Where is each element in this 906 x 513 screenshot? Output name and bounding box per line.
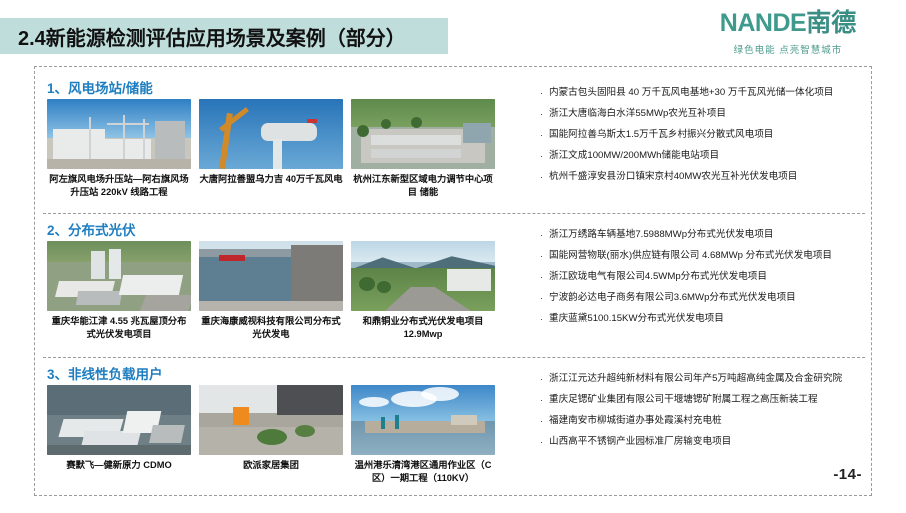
section-divider — [43, 357, 865, 358]
section-distributed-pv: 2、分布式光伏 — [35, 215, 873, 357]
substation-photo — [47, 99, 191, 169]
case-caption: 阿左旗风电场升压站—阿右旗风场升压站 220kV 线路工程 — [47, 173, 191, 198]
section-image-row: 阿左旗风电场升压站—阿右旗风场升压站 220kV 线路工程 大唐阿 — [47, 99, 497, 198]
bullet-item: ·重庆足锶矿业集团有限公司干堰塘锶矿附属工程之高压新装工程 — [540, 394, 860, 406]
case-card[interactable]: 重庆海康威视科技有限公司分布式光伏发电 — [199, 241, 343, 340]
page-title: 2.4新能源检测评估应用场景及案例（部分） — [0, 22, 406, 51]
bullet-item: ·山西高平不锈钢产业园标准厂房输变电项目 — [540, 436, 860, 448]
case-caption: 杭州江东新型区域电力调节中心项目 储能 — [351, 173, 495, 198]
logo-tagline: 绿色电能 点亮智慧城市 — [734, 42, 843, 56]
case-card[interactable]: 和鼎铜业分布式光伏发电项目 12.9Mwp — [351, 241, 495, 340]
office-building-photo — [199, 241, 343, 311]
port-terminal-aerial-photo — [351, 385, 495, 455]
section-heading: 3、非线性负载用户 — [47, 363, 163, 383]
wind-turbine-photo — [199, 99, 343, 169]
bullet-marker: · — [540, 150, 549, 162]
bullet-text: 浙江文成100MW/200MWh储能电站项目 — [549, 150, 860, 162]
case-caption: 大唐阿拉善盟乌力吉 40万千瓦风电 — [199, 173, 343, 186]
bullet-text: 浙江欧珑电气有限公司4.5WMp分布式光伏发电项目 — [549, 271, 860, 283]
bullet-text: 福建南安市柳城街道办事处霞溪村充电桩 — [549, 415, 860, 427]
bullet-item: ·国能阿拉善乌斯太1.5万千瓦乡村振兴分散式风电项目 — [540, 129, 860, 141]
energy-storage-aerial-photo — [351, 99, 495, 169]
bullet-item: ·杭州千盛淳安县汾口镇宋京村40MW农光互补光伏发电项目 — [540, 171, 860, 183]
bullet-text: 浙江万绣路车辆基地7.5988MWp分布式光伏发电项目 — [549, 229, 860, 241]
case-caption: 和鼎铜业分布式光伏发电项目 12.9Mwp — [351, 315, 495, 340]
logo-latin: NANDE — [720, 9, 806, 37]
bullet-marker: · — [540, 373, 549, 385]
bullet-item: ·浙江万绣路车辆基地7.5988MWp分布式光伏发电项目 — [540, 229, 860, 241]
bullet-item: ·浙江江元达升超纯新材料有限公司年产5万吨超高纯金属及合金研究院 — [540, 373, 860, 385]
section-wind-storage: 1、风电场站/储能 — [35, 73, 873, 213]
case-card[interactable]: 赛默飞—健新原力 CDMO — [47, 385, 191, 484]
bullet-marker: · — [540, 271, 549, 283]
bullet-marker: · — [540, 436, 549, 448]
section-image-row: 重庆华能江津 4.55 兆瓦屋顶分布式光伏发电项目 重庆海康威视科 — [47, 241, 497, 340]
bullet-item: ·重庆蓝黛5100.15KW分布式光伏发电项目 — [540, 313, 860, 325]
slide: 2.4新能源检测评估应用场景及案例（部分） NANDE南德 绿色电能 点亮智慧城… — [0, 0, 906, 513]
bullet-item: ·宁波韵必达电子商务有限公司3.6MWp分布式光伏发电项目 — [540, 292, 860, 304]
case-caption: 重庆海康威视科技有限公司分布式光伏发电 — [199, 315, 343, 340]
bullet-text: 重庆蓝黛5100.15KW分布式光伏发电项目 — [549, 313, 860, 325]
bullet-marker: · — [540, 129, 549, 141]
page-number: -14- — [833, 466, 862, 483]
bullet-text: 浙江大唐临海白水洋55MWp农光互补项目 — [549, 108, 860, 120]
bullet-marker: · — [540, 171, 549, 183]
bullet-marker: · — [540, 415, 549, 427]
bullet-marker: · — [540, 292, 549, 304]
bullet-item: ·福建南安市柳城街道办事处霞溪村充电桩 — [540, 415, 860, 427]
section-heading: 1、风电场站/储能 — [47, 77, 153, 97]
bullet-text: 国能阿拉善乌斯太1.5万千瓦乡村振兴分散式风电项目 — [549, 129, 860, 141]
bullet-text: 宁波韵必达电子商务有限公司3.6MWp分布式光伏发电项目 — [549, 292, 860, 304]
section-divider — [43, 213, 865, 214]
case-card[interactable]: 欧派家居集团 — [199, 385, 343, 484]
section-bullet-list: ·浙江江元达升超纯新材料有限公司年产5万吨超高纯金属及合金研究院 ·重庆足锶矿业… — [540, 373, 860, 457]
bullet-item: ·浙江欧珑电气有限公司4.5WMp分布式光伏发电项目 — [540, 271, 860, 283]
case-card[interactable]: 大唐阿拉善盟乌力吉 40万千瓦风电 — [199, 99, 343, 198]
bullet-text: 国能网营物联(丽水)供应链有限公司 4.68MWp 分布式光伏发电项目 — [549, 250, 860, 262]
logo-wordmark: NANDE南德 — [720, 11, 856, 36]
bullet-marker: · — [540, 313, 549, 325]
slide-title-band: 2.4新能源检测评估应用场景及案例（部分） — [0, 18, 448, 54]
case-caption: 欧派家居集团 — [199, 459, 343, 472]
campus-road-photo — [351, 241, 495, 311]
company-logo: NANDE南德 绿色电能 点亮智慧城市 — [688, 8, 888, 58]
bullet-item: ·内蒙古包头固阳县 40 万千瓦风电基地+30 万千瓦风光储一体化项目 — [540, 87, 860, 99]
bullet-text: 山西高平不锈钢产业园标准厂房输变电项目 — [549, 436, 860, 448]
industrial-park-aerial-photo — [47, 241, 191, 311]
logo-chinese: 南德 — [806, 9, 856, 37]
case-caption: 赛默飞—健新原力 CDMO — [47, 459, 191, 472]
bullet-item: ·浙江大唐临海白水洋55MWp农光互补项目 — [540, 108, 860, 120]
case-card[interactable]: 重庆华能江津 4.55 兆瓦屋顶分布式光伏发电项目 — [47, 241, 191, 340]
bullet-marker: · — [540, 394, 549, 406]
section-bullet-list: ·内蒙古包头固阳县 40 万千瓦风电基地+30 万千瓦风光储一体化项目 ·浙江大… — [540, 87, 860, 192]
content-frame: 1、风电场站/储能 — [34, 66, 872, 496]
bullet-text: 内蒙古包头固阳县 40 万千瓦风电基地+30 万千瓦风光储一体化项目 — [549, 87, 860, 99]
case-caption: 重庆华能江津 4.55 兆瓦屋顶分布式光伏发电项目 — [47, 315, 191, 340]
section-image-row: 赛默飞—健新原力 CDMO 欧派家居 — [47, 385, 497, 484]
factory-campus-aerial-photo — [199, 385, 343, 455]
bullet-marker: · — [540, 108, 549, 120]
case-caption: 温州港乐清湾港区通用作业区（C 区）一期工程（110KV） — [351, 459, 495, 484]
section-bullet-list: ·浙江万绣路车辆基地7.5988MWp分布式光伏发电项目 ·国能网营物联(丽水)… — [540, 229, 860, 334]
case-card[interactable]: 阿左旗风电场升压站—阿右旗风场升压站 220kV 线路工程 — [47, 99, 191, 198]
bullet-item: ·国能网营物联(丽水)供应链有限公司 4.68MWp 分布式光伏发电项目 — [540, 250, 860, 262]
case-card[interactable]: 温州港乐清湾港区通用作业区（C 区）一期工程（110KV） — [351, 385, 495, 484]
pharma-plant-aerial-photo — [47, 385, 191, 455]
bullet-item: ·浙江文成100MW/200MWh储能电站项目 — [540, 150, 860, 162]
bullet-marker: · — [540, 229, 549, 241]
bullet-text: 重庆足锶矿业集团有限公司干堰塘锶矿附属工程之高压新装工程 — [549, 394, 860, 406]
bullet-text: 浙江江元达升超纯新材料有限公司年产5万吨超高纯金属及合金研究院 — [549, 373, 860, 385]
bullet-marker: · — [540, 87, 549, 99]
section-heading: 2、分布式光伏 — [47, 219, 136, 239]
case-card[interactable]: 杭州江东新型区域电力调节中心项目 储能 — [351, 99, 495, 198]
section-nonlinear-load: 3、非线性负载用户 赛默飞—健新原力 C — [35, 359, 873, 495]
bullet-text: 杭州千盛淳安县汾口镇宋京村40MW农光互补光伏发电项目 — [549, 171, 860, 183]
bullet-marker: · — [540, 250, 549, 262]
